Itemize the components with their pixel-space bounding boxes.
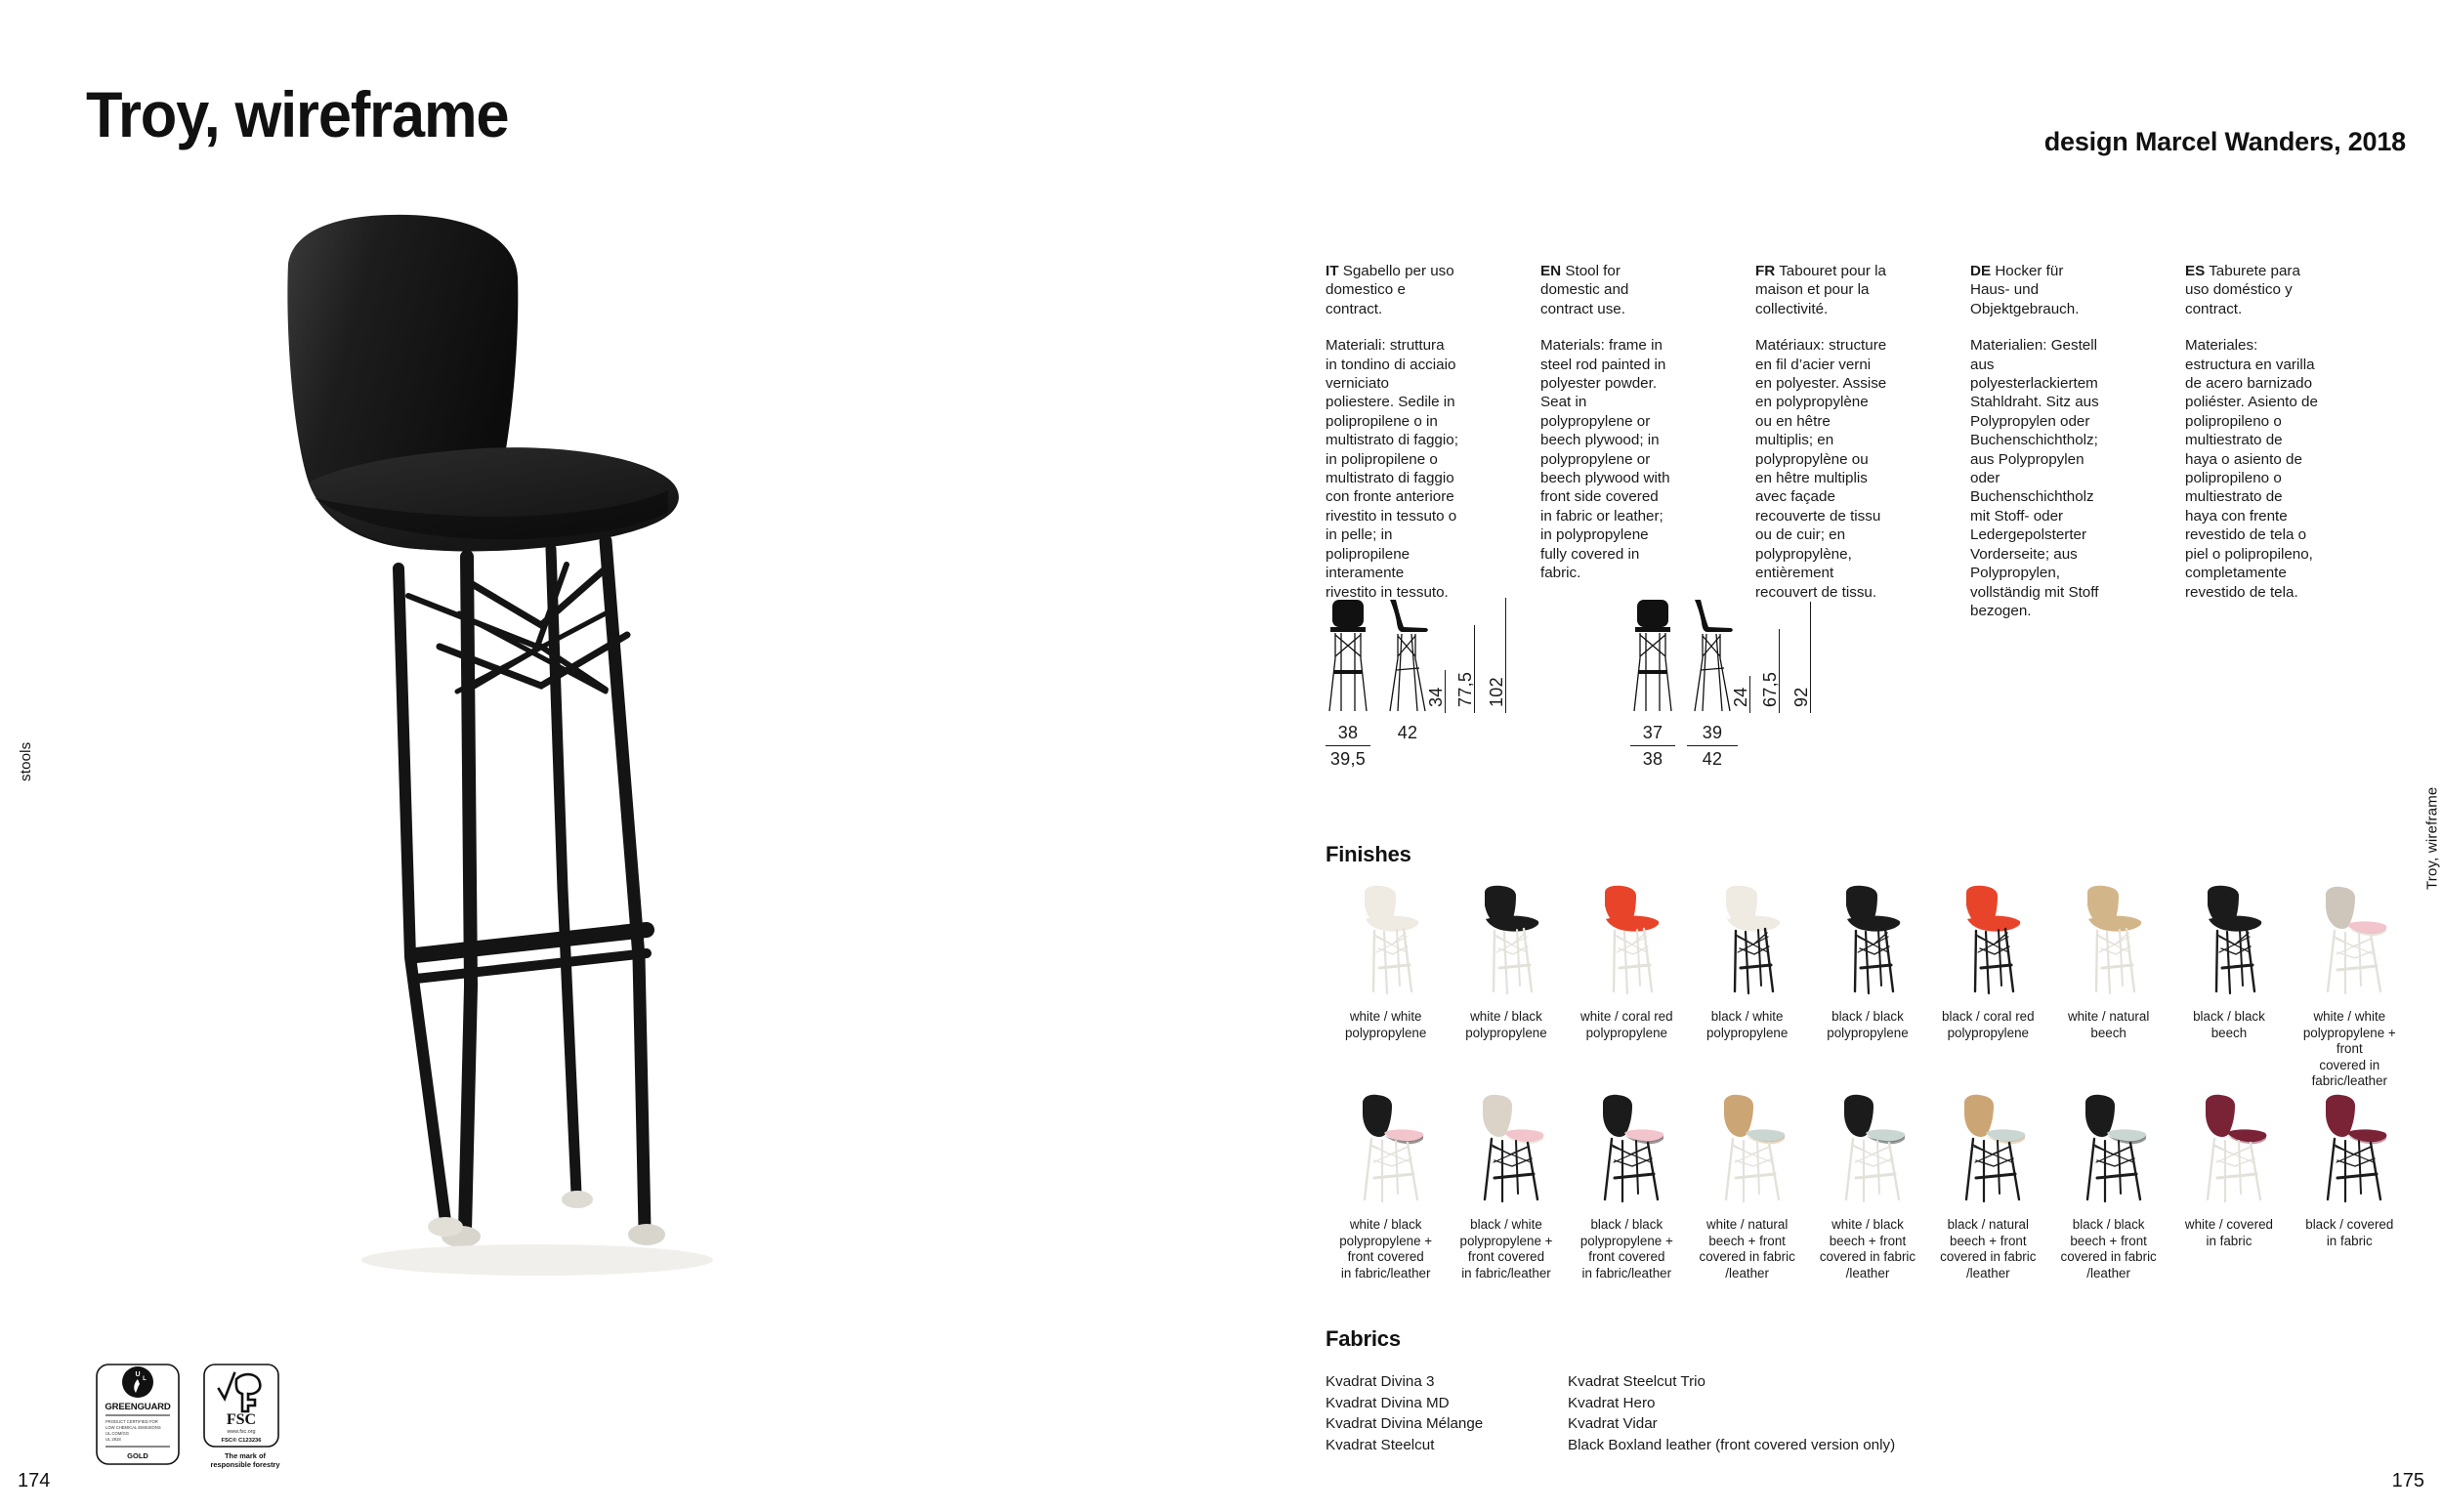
fsc-caption: The mark ofresponsible forestry	[203, 1452, 287, 1469]
finish-option[interactable]: black / naturalbeech + frontcovered in f…	[1928, 1092, 2048, 1281]
finish-label: black / blackpolypropylene +front covere…	[1567, 1217, 1686, 1281]
height-value: 67,5	[1760, 672, 1781, 707]
width-pair: 42	[1382, 721, 1433, 744]
width-value-bottom: 39,5	[1326, 747, 1370, 771]
width-value-top: 37	[1630, 721, 1675, 744]
finishes-row-1: white / whitepolypropylenewhite / blackp…	[1326, 884, 2410, 1090]
height-value: 34	[1426, 687, 1447, 707]
finish-label: white / coveredin fabric	[2169, 1217, 2289, 1249]
finish-label: white / whitepolypropylene	[1326, 1009, 1446, 1041]
finish-thumbnail	[2182, 1092, 2276, 1207]
description-lead-text: Tabouret pour la maison et pour la colle…	[1755, 263, 1886, 317]
finish-thumbnail	[1941, 884, 2035, 999]
height-value: 77,5	[1455, 672, 1476, 707]
description-column-it: IT Sgabello per uso domestico e contract…	[1326, 262, 1458, 620]
page-number-left: 174	[18, 1470, 50, 1492]
svg-text:UL.COM/GG: UL.COM/GG	[105, 1431, 129, 1436]
description-column-es: ES Taburete para uso doméstico y contrac…	[2185, 262, 2318, 620]
finish-thumbnail	[2302, 1092, 2396, 1207]
fabric-item: Black Boxland leather (front covered ver…	[1568, 1435, 2095, 1456]
finish-label: white / blackpolypropylene +front covere…	[1326, 1217, 1446, 1281]
width-divider-rule	[1630, 745, 1675, 746]
height-value: 102	[1487, 677, 1507, 707]
width-dimension-values: 38 39,5 42	[1326, 721, 1550, 791]
finish-thumbnail	[1339, 884, 1433, 999]
finish-label: white / whitepolypropylene + frontcovere…	[2290, 1009, 2409, 1090]
svg-text:LOW CHEMICAL EMISSIONS: LOW CHEMICAL EMISSIONS	[105, 1425, 161, 1430]
finish-option[interactable]: black / blackpolypropylene	[1807, 884, 1927, 1090]
finish-option[interactable]: white / coveredin fabric	[2168, 1092, 2289, 1281]
svg-text:PRODUCT CERTIFIED FOR: PRODUCT CERTIFIED FOR	[105, 1419, 158, 1424]
svg-text:GOLD: GOLD	[127, 1451, 148, 1460]
width-divider-rule	[1326, 745, 1370, 746]
finish-option[interactable]: black / whitepolypropylene +front covere…	[1446, 1092, 1566, 1281]
finish-label: white / blackbeech + frontcovered in fab…	[1808, 1217, 1927, 1281]
finish-label: black / coral redpolypropylene	[1928, 1009, 2047, 1041]
language-tag: DE	[1970, 263, 1991, 279]
finish-thumbnail	[1821, 1092, 1915, 1207]
finish-label: black / coveredin fabric	[2290, 1217, 2409, 1249]
width-value-bottom: 42	[1687, 747, 1738, 771]
svg-text:GREENGUARD: GREENGUARD	[105, 1402, 171, 1412]
finish-label: white / naturalbeech + frontcovered in f…	[1688, 1217, 1807, 1281]
height-value: 24	[1731, 687, 1751, 707]
page-title: Troy, wireframe	[86, 82, 508, 147]
fabrics-heading: Fabrics	[1326, 1326, 1401, 1352]
finish-option[interactable]: white / whitepolypropylene + frontcovere…	[2290, 884, 2410, 1090]
finish-label: black / whitepolypropylene	[1688, 1009, 1807, 1041]
description-body: Materialien: Gestell aus polyesterlackie…	[1970, 336, 2103, 620]
fabric-item: Kvadrat Steelcut	[1326, 1435, 1568, 1456]
svg-text:www.fsc.org: www.fsc.org	[226, 1429, 255, 1435]
hero-product-photo	[147, 205, 850, 1289]
finish-thumbnail	[2062, 1092, 2156, 1207]
finish-option[interactable]: white / naturalbeech + frontcovered in f…	[1687, 1092, 1807, 1281]
width-value-bottom: 38	[1630, 747, 1675, 771]
dimension-diagrams: 34 77,5 102 38 39,5 42	[1326, 598, 2009, 793]
svg-text:FSC® C123236: FSC® C123236	[221, 1437, 262, 1444]
finish-option[interactable]: white / whitepolypropylene	[1326, 884, 1446, 1090]
finish-option[interactable]: black / coveredin fabric	[2290, 1092, 2410, 1281]
description-body: Materiali: struttura in tondino di accia…	[1326, 336, 1458, 602]
fabrics-column-1: Kvadrat Divina 3Kvadrat Divina MDKvadrat…	[1326, 1371, 1568, 1455]
finish-option[interactable]: black / blackpolypropylene +front covere…	[1567, 1092, 1687, 1281]
fabric-item: Kvadrat Divina 3	[1326, 1371, 1568, 1393]
language-tag: ES	[2185, 263, 2205, 279]
width-dimension-values: 37 38 39 42	[1630, 721, 1855, 791]
fsc-logo: FSC www.fsc.org FSC® C123236 The mark of…	[203, 1364, 287, 1469]
description-column-fr: FR Tabouret pour la maison et pour la co…	[1755, 262, 1888, 620]
finish-option[interactable]: white / blackpolypropylene	[1446, 884, 1566, 1090]
svg-text:UL 2818: UL 2818	[105, 1437, 121, 1442]
description-lead: ES Taburete para uso doméstico y contrac…	[2185, 262, 2318, 318]
dimension-icons: 34 77,5 102	[1326, 598, 1550, 713]
finish-label: black / blackbeech + frontcovered in fab…	[2049, 1217, 2168, 1281]
fabric-item: Kvadrat Divina Mélange	[1326, 1413, 1568, 1435]
svg-text:U: U	[135, 1371, 140, 1378]
finish-thumbnail	[1701, 884, 1794, 999]
certification-logos: U L GREENGUARD PRODUCT CERTIFIED FOR LOW…	[96, 1364, 287, 1469]
svg-text:FSC: FSC	[227, 1411, 256, 1428]
stool-front-elevation-icon	[1630, 598, 1675, 713]
finish-thumbnail	[1821, 884, 1915, 999]
language-tag: FR	[1755, 263, 1775, 279]
finish-label: white / coral redpolypropylene	[1567, 1009, 1686, 1041]
finish-option[interactable]: black / whitepolypropylene	[1687, 884, 1807, 1090]
description-body: Matériaux: structure en fil d’acier vern…	[1755, 336, 1888, 602]
description-column-en: EN Stool for domestic and contract use. …	[1540, 262, 1673, 620]
finish-option[interactable]: white / blackpolypropylene +front covere…	[1326, 1092, 1446, 1281]
finish-thumbnail	[1459, 884, 1553, 999]
catalog-page-spread: Troy, wireframe design Marcel Wanders, 2…	[0, 0, 2442, 1512]
width-pair: 38 39,5	[1326, 721, 1370, 771]
page-number-right: 175	[2392, 1470, 2424, 1492]
finish-label: black / blackpolypropylene	[1808, 1009, 1927, 1041]
finish-label: black / naturalbeech + frontcovered in f…	[1928, 1217, 2047, 1281]
description-lead: EN Stool for domestic and contract use.	[1540, 262, 1673, 318]
product-description-block: IT Sgabello per uso domestico e contract…	[1326, 262, 2400, 620]
description-column-de: DE Hocker für Haus- und Objektgebrauch. …	[1970, 262, 2103, 620]
svg-text:L: L	[143, 1376, 147, 1382]
spine-label-right: Troy, wireframe	[2424, 787, 2441, 891]
finishes-heading: Finishes	[1326, 842, 1411, 867]
width-value-top: 39	[1687, 721, 1738, 744]
width-pair: 37 38	[1630, 721, 1675, 771]
finish-option[interactable]: white / coral redpolypropylene	[1567, 884, 1687, 1090]
fabric-item: Kvadrat Steelcut Trio	[1568, 1371, 2095, 1393]
finish-thumbnail	[2062, 884, 2156, 999]
height-value: 92	[1791, 687, 1812, 707]
finish-label: black / whitepolypropylene +front covere…	[1447, 1217, 1566, 1281]
finish-option[interactable]: black / coral redpolypropylene	[1928, 884, 2048, 1090]
designer-credit: design Marcel Wanders, 2018	[2044, 127, 2406, 157]
fabric-item: Kvadrat Vidar	[1568, 1413, 2095, 1435]
finish-option[interactable]: black / blackbeech + frontcovered in fab…	[2048, 1092, 2168, 1281]
description-body: Materiales: estructura en varilla de ace…	[2185, 336, 2318, 602]
finish-thumbnail	[1339, 1092, 1433, 1207]
finish-label: white / naturalbeech	[2049, 1009, 2168, 1041]
description-lead-text: Sgabello per uso domestico e contract.	[1326, 263, 1454, 317]
fabrics-column-2: Kvadrat Steelcut TrioKvadrat HeroKvadrat…	[1568, 1371, 2095, 1455]
width-value-top: 42	[1382, 721, 1433, 744]
width-value-top: 38	[1326, 721, 1370, 744]
width-pair: 39 42	[1687, 721, 1738, 771]
spine-label-left: stools	[18, 742, 34, 781]
finish-thumbnail	[2302, 884, 2396, 999]
finish-thumbnail	[2182, 884, 2276, 999]
description-lead: IT Sgabello per uso domestico e contract…	[1326, 262, 1458, 318]
description-lead: DE Hocker für Haus- und Objektgebrauch.	[1970, 262, 2103, 318]
finishes-row-2: white / blackpolypropylene +front covere…	[1326, 1092, 2410, 1281]
dimension-group-barstool-102: 34 77,5 102 38 39,5 42	[1326, 598, 1550, 791]
finish-option[interactable]: white / blackbeech + frontcovered in fab…	[1807, 1092, 1927, 1281]
finish-thumbnail	[1459, 1092, 1553, 1207]
finish-thumbnail	[1579, 884, 1673, 999]
dimension-icons: 24 67,5 92	[1630, 598, 1855, 713]
description-lead: FR Tabouret pour la maison et pour la co…	[1755, 262, 1888, 318]
fabric-item: Kvadrat Hero	[1568, 1393, 2095, 1414]
finish-thumbnail	[1579, 1092, 1673, 1207]
finish-option[interactable]: black / blackbeech	[2168, 884, 2289, 1090]
finish-label: black / blackbeech	[2169, 1009, 2289, 1041]
width-divider-rule	[1687, 745, 1738, 746]
description-body: Materials: frame in steel rod painted in…	[1540, 336, 1673, 582]
finish-option[interactable]: white / naturalbeech	[2048, 884, 2168, 1090]
greenguard-gold-logo: U L GREENGUARD PRODUCT CERTIFIED FOR LOW…	[96, 1364, 180, 1465]
fabrics-list: Kvadrat Divina 3Kvadrat Divina MDKvadrat…	[1326, 1371, 2107, 1455]
dimension-group-barstool-92: 24 67,5 92 37 38 39 42	[1630, 598, 1855, 791]
language-tag: EN	[1540, 263, 1561, 279]
stool-front-elevation-icon	[1326, 598, 1370, 713]
language-tag: IT	[1326, 263, 1339, 279]
fabric-item: Kvadrat Divina MD	[1326, 1393, 1568, 1414]
finish-thumbnail	[1701, 1092, 1794, 1207]
finish-label: white / blackpolypropylene	[1447, 1009, 1566, 1041]
finish-thumbnail	[1941, 1092, 2035, 1207]
